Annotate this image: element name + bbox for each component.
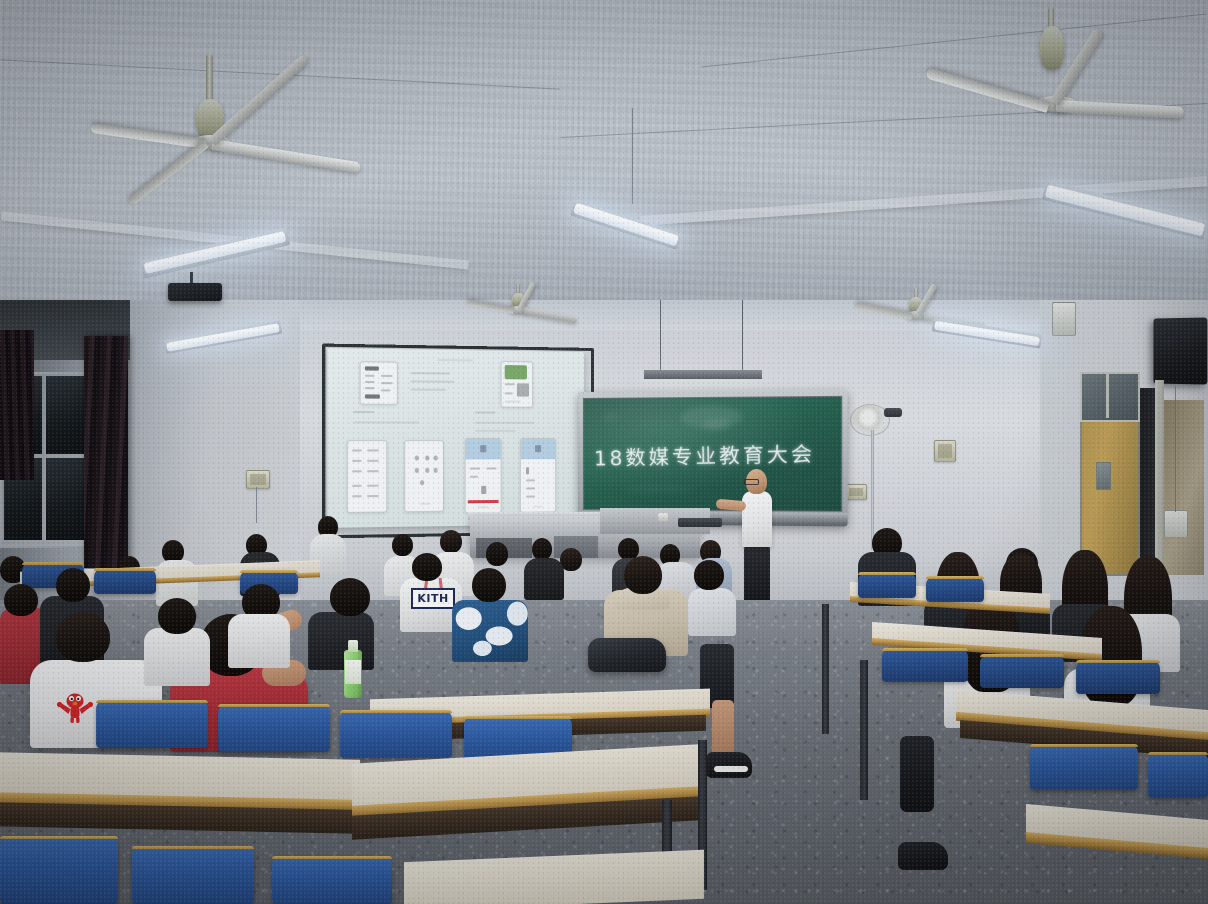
window-pane: [46, 376, 84, 454]
blackboard-light-wire: [660, 300, 661, 372]
student-head: [440, 530, 462, 553]
speaker-shirt: [742, 491, 772, 547]
fan-blade: [1056, 100, 1184, 119]
window-pane: [46, 458, 84, 540]
chair[interactable]: [132, 846, 254, 904]
fan-blade: [523, 308, 577, 323]
left-curtain: [84, 336, 128, 568]
wall-fan-pole: [871, 430, 874, 550]
glasses-icon: [744, 479, 759, 485]
chair[interactable]: [94, 568, 156, 594]
slide-mockup-grid: [347, 440, 388, 513]
student-head: [412, 553, 442, 581]
chair[interactable]: [0, 836, 118, 904]
student-head: [624, 556, 662, 594]
left-curtain-far: [0, 330, 34, 480]
ceiling-fan-right: [930, 8, 1208, 148]
desk-leg: [822, 604, 829, 734]
bottle-label: [345, 660, 361, 684]
outlet-face: [849, 488, 863, 496]
outlet-face: [938, 444, 952, 458]
student-head: [532, 538, 552, 560]
shoe-sole: [714, 766, 748, 772]
bottle-cap: [348, 640, 358, 652]
speaker-cone: [1163, 332, 1174, 344]
student-head: [486, 542, 508, 566]
desk-leg: [860, 660, 868, 800]
slide-subtext: [475, 430, 516, 432]
chair[interactable]: [218, 704, 330, 752]
outlet-right-wall-upper: [934, 440, 956, 462]
student-torso: [308, 612, 374, 670]
speaker-cable: [1175, 386, 1176, 512]
student-head: [4, 584, 38, 616]
blackboard: 18数媒专业教育大会: [578, 390, 848, 527]
wall-speaker: [1153, 317, 1207, 384]
wall-fan-neck: [884, 408, 902, 417]
outlet-right-wall-lower: [845, 484, 867, 500]
classroom-photo: 18数媒专业教育大会: [0, 0, 1208, 904]
student-torso: [228, 614, 290, 668]
podium-cup: [658, 513, 668, 521]
backpack: [588, 638, 666, 672]
fan-blade: [925, 67, 1049, 112]
slide-heading: [475, 412, 495, 414]
door-jamb: [1155, 380, 1164, 576]
podium-keyboard[interactable]: [678, 518, 722, 527]
ceiling-projector: [168, 283, 222, 301]
chair[interactable]: [980, 654, 1064, 688]
door-recess: [1160, 400, 1204, 575]
chair[interactable]: [858, 572, 916, 598]
slide-heading: [353, 411, 374, 413]
student-head: [56, 612, 110, 662]
door-mullion: [1106, 372, 1109, 418]
student-torso: [452, 600, 528, 662]
outlet-conduit: [256, 487, 257, 523]
student-torso: [144, 628, 210, 686]
slide-subtext: [353, 421, 419, 423]
student-head: [694, 560, 724, 590]
chair[interactable]: [1148, 752, 1208, 798]
door-view-panel: [1096, 462, 1111, 490]
fan-motor: [1040, 26, 1064, 70]
student-shoe: [706, 752, 752, 778]
fan-blade: [209, 54, 309, 146]
student-head: [158, 598, 196, 634]
student-torso: [524, 558, 564, 600]
student-head: [472, 568, 506, 602]
slide-card-image: [501, 361, 533, 408]
student-head: [330, 578, 370, 616]
chair[interactable]: [340, 710, 452, 758]
student-torso: [688, 588, 736, 636]
student-head: [56, 568, 90, 602]
projection-screen: [327, 348, 584, 528]
blackboard-surface: 18数媒专业教育大会: [583, 396, 842, 512]
slide-card-list: [360, 361, 398, 405]
fan-blade: [211, 139, 361, 173]
fan-blade: [128, 140, 209, 206]
chair[interactable]: [96, 700, 208, 748]
slide-mockup-phone: [465, 438, 502, 514]
fan-blade: [90, 123, 206, 149]
student-trousers: [900, 736, 934, 812]
chair[interactable]: [926, 576, 984, 602]
blackboard-light: [644, 370, 762, 379]
door-window: [1080, 372, 1140, 422]
outlet-left-wall: [246, 470, 270, 489]
slide-mockup-grid: [404, 440, 444, 512]
chair[interactable]: [882, 648, 968, 682]
electrical-box-upper: [1052, 302, 1076, 336]
kith-logo-text: KITH: [417, 593, 448, 604]
chair[interactable]: [1030, 744, 1138, 790]
fan-blade: [854, 302, 912, 320]
outlet-face: [250, 474, 266, 485]
fan-blade: [466, 300, 514, 314]
elmo-graphic: [55, 688, 95, 724]
blackboard-text: 18数媒专业教育大会: [594, 437, 843, 472]
tube-wire: [632, 108, 633, 204]
student-head: [392, 534, 413, 556]
kith-logo: KITH: [411, 588, 455, 609]
chair[interactable]: [272, 856, 392, 904]
chair[interactable]: [1076, 660, 1160, 694]
ceiling-fan-center-left: [472, 284, 602, 328]
bottle: [344, 636, 362, 698]
electrical-box-right: [1164, 510, 1188, 538]
student-shoe: [898, 842, 948, 870]
slide-subtext: [475, 422, 534, 424]
ceiling-fan-left: [100, 55, 420, 205]
slide-mockup-phone: [520, 438, 556, 513]
blackboard-light-wire: [742, 300, 743, 372]
